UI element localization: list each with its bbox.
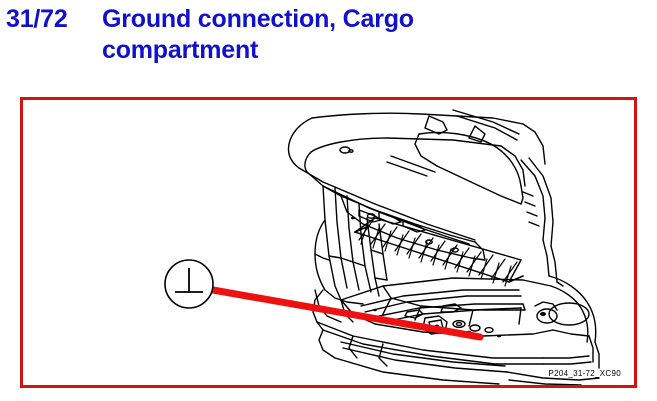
page-title-text-line-1: Ground connection, Cargo xyxy=(102,5,414,33)
cargo-load-floor xyxy=(341,278,553,336)
figure-reference-label: P204_31-72_XC90 xyxy=(548,369,621,378)
vehicle-line-drawing-svg xyxy=(23,100,634,385)
page-title-number: 31/72 xyxy=(6,4,102,35)
page-title-text-line-2: compartment xyxy=(6,35,606,66)
side-trim-panel xyxy=(315,186,387,322)
page-title-line-1: 31/72Ground connection, Cargo xyxy=(6,4,606,35)
illustration-panel: P204_31-72_XC90 xyxy=(20,97,637,388)
technical-drawing xyxy=(23,100,634,385)
ground-symbol-callout xyxy=(165,260,213,308)
callout-leader-line xyxy=(213,290,480,337)
roof-and-pillar-group xyxy=(415,110,557,282)
page-title: 31/72Ground connection, Cargo compartmen… xyxy=(6,4,606,66)
